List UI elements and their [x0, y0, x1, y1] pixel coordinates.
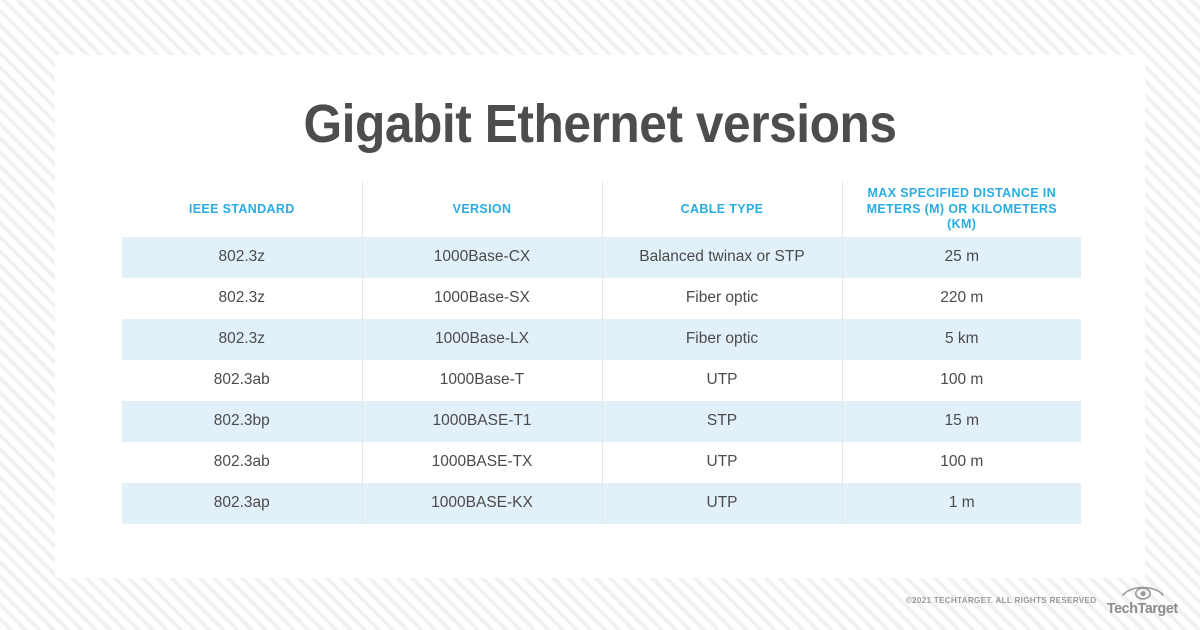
- page-title: Gigabit Ethernet versions: [99, 55, 1102, 155]
- cell-cable-type: UTP: [602, 483, 842, 524]
- table-header: IEEE standard Version Cable type Max spe…: [122, 182, 1081, 237]
- content-card: Gigabit Ethernet versions IEEE standard …: [55, 55, 1145, 578]
- cell-max-distance: 220 m: [842, 278, 1081, 319]
- cell-max-distance: 5 km: [842, 319, 1081, 360]
- cell-max-distance: 15 m: [842, 401, 1081, 442]
- cell-max-distance: 100 m: [842, 442, 1081, 483]
- cell-max-distance: 100 m: [842, 360, 1081, 401]
- footer: ©2021 TECHTARGET. ALL RIGHTS RESERVED Te…: [906, 584, 1180, 616]
- table-row: 802.3ab 1000BASE-TX UTP 100 m: [122, 442, 1081, 483]
- table-row: 802.3bp 1000BASE-T1 STP 15 m: [122, 401, 1081, 442]
- cell-version: 1000Base-T: [362, 360, 602, 401]
- gigabit-ethernet-versions-table: IEEE standard Version Cable type Max spe…: [122, 182, 1081, 524]
- cell-max-distance: 1 m: [842, 483, 1081, 524]
- table-row: 802.3z 1000Base-LX Fiber optic 5 km: [122, 319, 1081, 360]
- cell-cable-type: Balanced twinax or STP: [602, 237, 842, 278]
- cell-cable-type: UTP: [602, 360, 842, 401]
- cell-version: 1000BASE-T1: [362, 401, 602, 442]
- column-header-version: Version: [362, 182, 602, 237]
- table-container: IEEE standard Version Cable type Max spe…: [122, 182, 1081, 524]
- table-body: 802.3z 1000Base-CX Balanced twinax or ST…: [122, 237, 1081, 524]
- column-header-max-distance: Max specified distance in meters (m) or …: [842, 182, 1081, 237]
- cell-ieee-standard: 802.3z: [122, 319, 362, 360]
- copyright-notice: ©2021 TECHTARGET. ALL RIGHTS RESERVED: [906, 596, 1097, 605]
- table-row: 802.3z 1000Base-SX Fiber optic 220 m: [122, 278, 1081, 319]
- cell-version: 1000BASE-KX: [362, 483, 602, 524]
- cell-max-distance: 25 m: [842, 237, 1081, 278]
- table-header-row: IEEE standard Version Cable type Max spe…: [122, 182, 1081, 237]
- cell-ieee-standard: 802.3z: [122, 237, 362, 278]
- cell-version: 1000Base-SX: [362, 278, 602, 319]
- eye-icon: [1121, 584, 1165, 600]
- column-header-ieee-standard: IEEE standard: [122, 182, 362, 237]
- cell-ieee-standard: 802.3ab: [122, 442, 362, 483]
- cell-ieee-standard: 802.3bp: [122, 401, 362, 442]
- cell-version: 1000Base-CX: [362, 237, 602, 278]
- table-row: 802.3z 1000Base-CX Balanced twinax or ST…: [122, 237, 1081, 278]
- cell-cable-type: Fiber optic: [602, 319, 842, 360]
- table-row: 802.3ap 1000BASE-KX UTP 1 m: [122, 483, 1081, 524]
- cell-cable-type: Fiber optic: [602, 278, 842, 319]
- table-row: 802.3ab 1000Base-T UTP 100 m: [122, 360, 1081, 401]
- cell-ieee-standard: 802.3ab: [122, 360, 362, 401]
- cell-version: 1000Base-LX: [362, 319, 602, 360]
- column-header-cable-type: Cable type: [602, 182, 842, 237]
- cell-ieee-standard: 802.3z: [122, 278, 362, 319]
- cell-cable-type: UTP: [602, 442, 842, 483]
- techtarget-logo: TechTarget: [1105, 584, 1180, 616]
- cell-cable-type: STP: [602, 401, 842, 442]
- cell-version: 1000BASE-TX: [362, 442, 602, 483]
- techtarget-wordmark: TechTarget: [1107, 601, 1178, 616]
- cell-ieee-standard: 802.3ap: [122, 483, 362, 524]
